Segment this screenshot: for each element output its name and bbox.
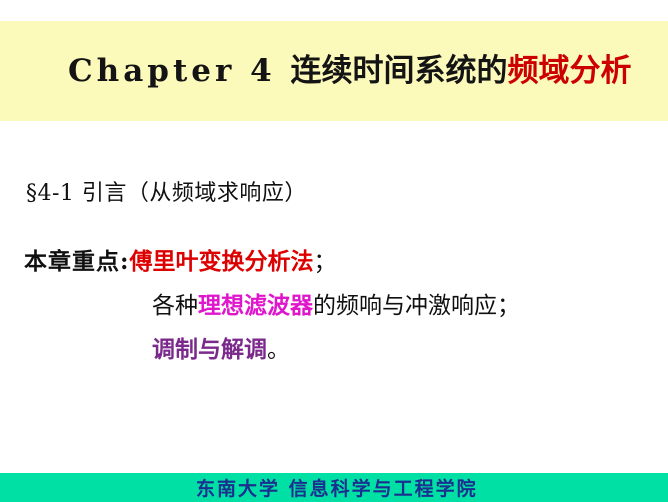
key-points-line-2-suffix: 的频响与冲激响应； — [313, 293, 520, 319]
key-points-line-2-prefix: 各种 — [152, 293, 198, 319]
title-chinese-black-segment: 连续时间系统的 — [291, 53, 508, 89]
key-points-highlight-modulation: 调制与解调 — [152, 336, 267, 363]
section-heading: §4-1 引言（从频域求响应） — [26, 175, 307, 207]
slide-canvas: Chapter 4 连续时间系统的频域分析 §4-1 引言（从频域求响应） 本章… — [0, 0, 668, 502]
key-points-highlight-ideal-filter: 理想滤波器 — [198, 292, 313, 319]
title-english-segment: Chapter 4 — [68, 53, 291, 89]
footer-bar: 东南大学 信息科学与工程学院 — [0, 473, 668, 502]
title-chinese-red-segment: 频域分析 — [508, 53, 632, 89]
footer-affiliation: 东南大学 信息科学与工程学院 — [196, 474, 478, 501]
page-title: Chapter 4 连续时间系统的频域分析 — [68, 54, 632, 88]
key-points-line-1-punct: ； — [314, 249, 337, 275]
key-points-line-1: 本章重点:傅里叶变换分析法； — [24, 240, 644, 284]
key-points-label: 本章重点: — [24, 248, 130, 275]
key-points-block: 本章重点:傅里叶变换分析法； 各种理想滤波器的频响与冲激响应； 调制与解调。 — [24, 240, 644, 372]
key-points-line-3: 调制与解调。 — [24, 328, 644, 372]
key-points-line-2: 各种理想滤波器的频响与冲激响应； — [24, 284, 644, 328]
key-points-highlight-fourier: 傅里叶变换分析法 — [130, 248, 314, 275]
key-points-line-3-punct: 。 — [267, 337, 290, 363]
title-banner: Chapter 4 连续时间系统的频域分析 — [0, 21, 668, 121]
